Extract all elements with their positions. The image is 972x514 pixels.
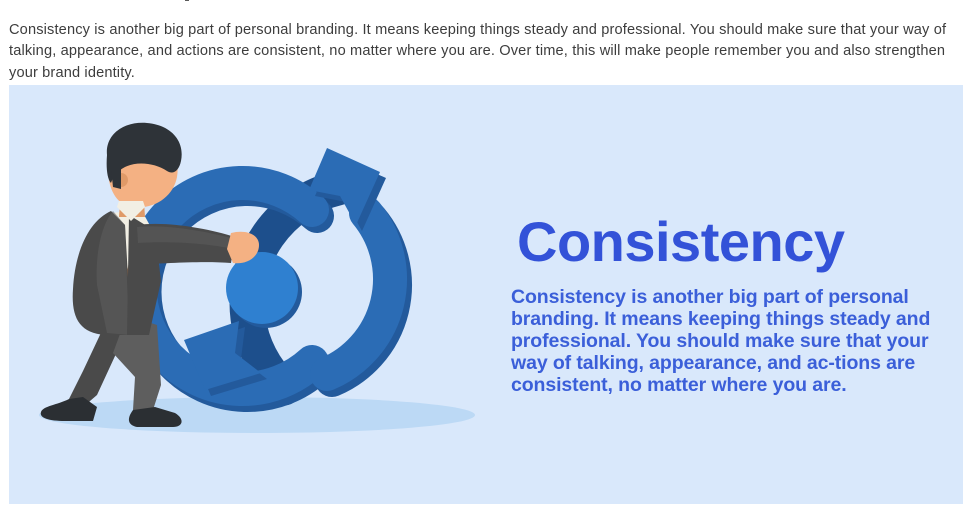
figure-body-text: Consistency is another big part of perso… <box>501 286 931 396</box>
refresh-arc-right-main <box>327 213 390 374</box>
refresh-arrow-group <box>139 148 395 396</box>
figure-text-block: Consistency Consistency is another big p… <box>501 213 941 396</box>
document-paragraph: Consistency is another big part of perso… <box>9 20 961 85</box>
figure-title: Consistency <box>501 213 941 272</box>
consistency-illustration-panel: Consistency Consistency is another big p… <box>9 85 963 504</box>
clipped-heading-fragment <box>185 0 189 1</box>
businessman-pushing-refresh-arrow-illustration <box>9 85 509 504</box>
